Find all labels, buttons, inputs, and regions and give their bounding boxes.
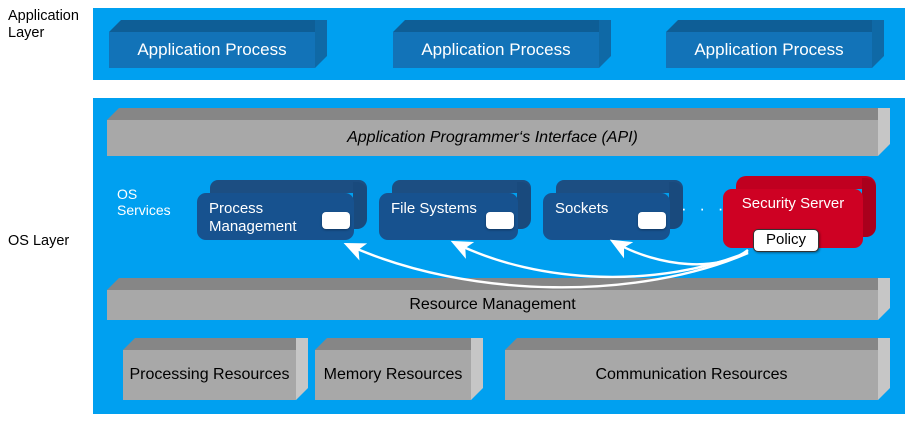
policy-hook-icon[interactable] bbox=[486, 212, 514, 229]
box-side-face bbox=[878, 108, 890, 156]
application-layer-label: Application Layer bbox=[8, 8, 86, 42]
security-server-box[interactable]: Security Server Policy bbox=[723, 176, 876, 248]
application-process-box[interactable]: Application Process bbox=[393, 20, 611, 68]
application-process-box[interactable]: Application Process bbox=[109, 20, 327, 68]
application-process-label: Application Process bbox=[393, 32, 599, 68]
api-bar-label: Application Programmer‘s Interface (API) bbox=[107, 120, 878, 156]
policy-button[interactable]: Policy bbox=[753, 229, 819, 252]
box-top-face bbox=[109, 20, 327, 32]
os-layer-panel: Application Programmer‘s Interface (API)… bbox=[93, 98, 905, 414]
resource-label: Memory Resources bbox=[315, 350, 471, 400]
box-top-face bbox=[666, 20, 884, 32]
policy-hook-icon[interactable] bbox=[322, 212, 350, 229]
resource-label: Processing Resources bbox=[123, 350, 296, 400]
resource-management-label: Resource Management bbox=[107, 290, 878, 320]
box-side-face bbox=[315, 20, 327, 68]
box-side-face bbox=[296, 338, 308, 400]
box-top-face bbox=[107, 278, 890, 290]
box-side-face bbox=[353, 182, 367, 229]
box-top-face bbox=[505, 338, 890, 350]
api-bar[interactable]: Application Programmer‘s Interface (API) bbox=[107, 108, 890, 156]
box-side-face bbox=[878, 278, 890, 320]
box-side-face bbox=[471, 338, 483, 400]
ellipsis-indicator: · · · bbox=[681, 200, 727, 217]
service-box-process-management[interactable]: Process Management bbox=[197, 180, 367, 240]
box-side-face bbox=[517, 182, 531, 229]
service-box-file-systems[interactable]: File Systems bbox=[379, 180, 531, 240]
box-top-face bbox=[210, 180, 367, 193]
os-layer-label: OS Layer bbox=[8, 233, 86, 250]
application-process-box[interactable]: Application Process bbox=[666, 20, 884, 68]
resource-label: Communication Resources bbox=[505, 350, 878, 400]
service-box-sockets[interactable]: Sockets bbox=[543, 180, 683, 240]
diagram-canvas: Application Layer OS Layer Application P… bbox=[0, 0, 917, 424]
resource-management-bar[interactable]: Resource Management bbox=[107, 278, 890, 320]
application-process-label: Application Process bbox=[666, 32, 872, 68]
box-top-face bbox=[736, 176, 876, 189]
resource-box-communication[interactable]: Communication Resources bbox=[505, 338, 890, 400]
box-top-face bbox=[123, 338, 308, 350]
policy-hook-icon[interactable] bbox=[638, 212, 666, 229]
box-top-face bbox=[107, 108, 890, 120]
box-side-face bbox=[862, 178, 876, 237]
box-top-face bbox=[315, 338, 483, 350]
box-top-face bbox=[556, 180, 683, 193]
box-side-face bbox=[878, 338, 890, 400]
box-top-face bbox=[392, 180, 531, 193]
application-process-label: Application Process bbox=[109, 32, 315, 68]
box-top-face bbox=[393, 20, 611, 32]
box-side-face bbox=[872, 20, 884, 68]
os-services-label: OS Services bbox=[117, 186, 171, 218]
application-layer-panel: Application Process Application Process … bbox=[93, 8, 905, 80]
box-side-face bbox=[599, 20, 611, 68]
security-server-label: Security Server bbox=[731, 195, 855, 213]
resource-box-processing[interactable]: Processing Resources bbox=[123, 338, 308, 400]
resource-box-memory[interactable]: Memory Resources bbox=[315, 338, 483, 400]
